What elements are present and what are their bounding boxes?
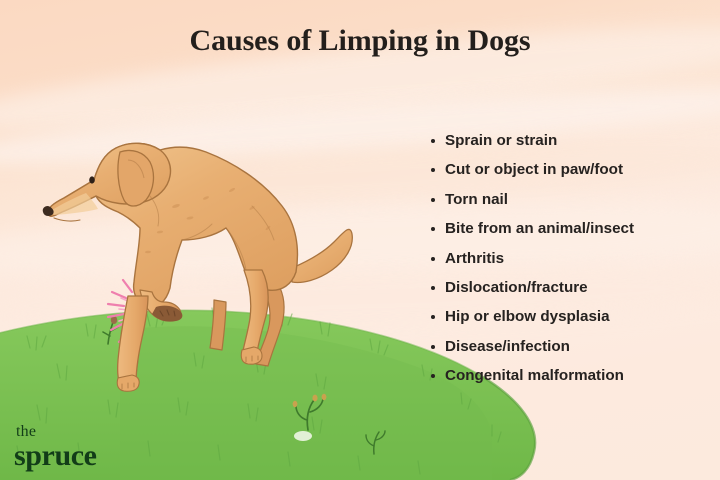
logo-line-spruce: spruce bbox=[14, 441, 97, 471]
brand-logo: the spruce bbox=[14, 424, 97, 471]
list-item: Bite from an animal/insect bbox=[430, 221, 715, 236]
list-item-label: Hip or elbow dysplasia bbox=[445, 308, 610, 325]
list-item: Dislocation/fracture bbox=[430, 280, 715, 295]
dog-eye bbox=[89, 176, 95, 183]
list-item: Cut or object in paw/foot bbox=[430, 162, 715, 177]
infographic-canvas: Causes of Limping in Dogs Sprain or stra… bbox=[0, 0, 720, 480]
bullet-icon bbox=[431, 345, 435, 349]
list-item-label: Cut or object in paw/foot bbox=[445, 161, 623, 178]
list-item-label: Disease/infection bbox=[445, 338, 570, 355]
page-title: Causes of Limping in Dogs bbox=[0, 24, 720, 58]
list-item: Torn nail bbox=[430, 192, 715, 207]
causes-list: Sprain or strain Cut or object in paw/fo… bbox=[430, 133, 715, 398]
list-item: Disease/infection bbox=[430, 339, 715, 354]
bullet-icon bbox=[431, 257, 435, 261]
bullet-icon bbox=[431, 227, 435, 231]
list-item-label: Bite from an animal/insect bbox=[445, 220, 634, 237]
list-item-label: Arthritis bbox=[445, 250, 504, 267]
bullet-icon bbox=[431, 139, 435, 143]
list-item: Congenital malformation bbox=[430, 368, 715, 383]
logo-line-the: the bbox=[16, 424, 97, 440]
list-item-label: Congenital malformation bbox=[445, 367, 624, 384]
bullet-icon bbox=[431, 315, 435, 319]
list-item: Hip or elbow dysplasia bbox=[430, 309, 715, 324]
list-item-label: Sprain or strain bbox=[445, 132, 557, 149]
list-item: Arthritis bbox=[430, 251, 715, 266]
bullet-icon bbox=[431, 168, 435, 172]
list-item-label: Dislocation/fracture bbox=[445, 279, 588, 296]
bullet-icon bbox=[431, 374, 435, 378]
bullet-icon bbox=[431, 198, 435, 202]
bullet-icon bbox=[431, 286, 435, 290]
list-item-label: Torn nail bbox=[445, 191, 508, 208]
list-item: Sprain or strain bbox=[430, 133, 715, 148]
